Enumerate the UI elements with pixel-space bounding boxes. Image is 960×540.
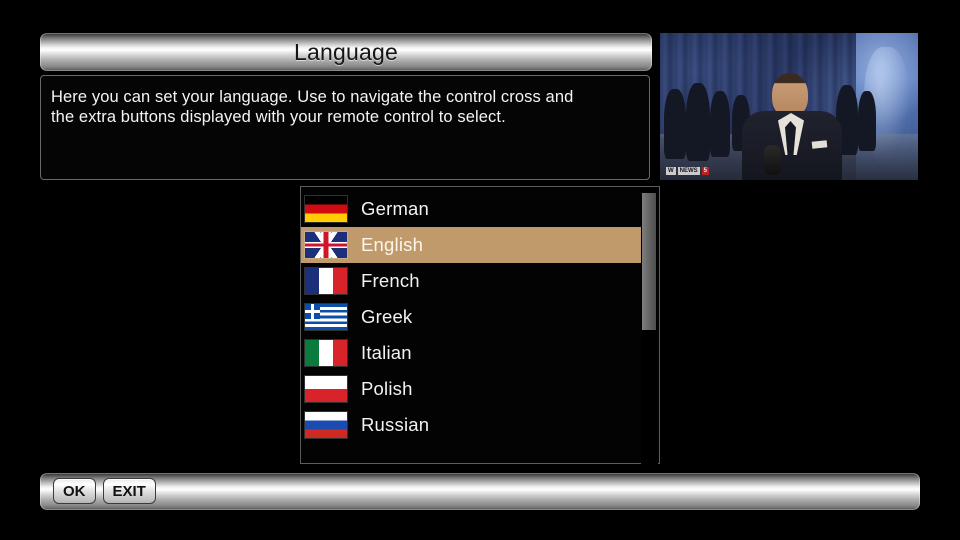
- list-scrollbar-track[interactable]: [641, 188, 658, 464]
- bug-network: NEWS: [678, 167, 700, 175]
- list-item-english[interactable]: English: [301, 227, 643, 263]
- france-flag-icon: [305, 268, 347, 294]
- ok-button-label: OK: [63, 483, 86, 500]
- list-item-label: French: [361, 270, 420, 292]
- crowd-figure: [710, 91, 730, 157]
- list-item-label: Russian: [361, 414, 429, 436]
- crowd-figure: [664, 89, 686, 159]
- language-list[interactable]: German English French Greek Italian Poli: [301, 191, 643, 443]
- description-panel: Here you can set your language. Use to n…: [40, 75, 650, 180]
- list-item-label: Greek: [361, 306, 412, 328]
- russia-flag-icon: [305, 412, 347, 438]
- list-item-german[interactable]: German: [301, 191, 643, 227]
- list-item-label: German: [361, 198, 429, 220]
- list-item-italian[interactable]: Italian: [301, 335, 643, 371]
- ok-button[interactable]: OK: [53, 478, 96, 504]
- list-item-label: English: [361, 234, 423, 256]
- exit-button[interactable]: EXIT: [103, 478, 156, 504]
- bug-number: 5: [702, 167, 709, 175]
- list-item-russian[interactable]: Russian: [301, 407, 643, 443]
- poland-flag-icon: [305, 376, 347, 402]
- list-scrollbar-thumb[interactable]: [642, 193, 656, 330]
- page-title: Language: [294, 39, 398, 66]
- description-text: Here you can set your language. Use to n…: [51, 87, 639, 127]
- language-list-panel: German English French Greek Italian Poli: [300, 186, 660, 464]
- crowd-figure: [686, 83, 710, 161]
- united-kingdom-flag-icon: [305, 232, 347, 258]
- microphone-icon: [764, 145, 781, 175]
- italy-flag-icon: [305, 340, 347, 366]
- exit-button-label: EXIT: [113, 483, 146, 500]
- list-item-french[interactable]: French: [301, 263, 643, 299]
- bug-letter: W: [666, 167, 676, 175]
- list-item-greek[interactable]: Greek: [301, 299, 643, 335]
- live-tv-preview[interactable]: W NEWS 5: [660, 33, 918, 180]
- footer-bar: OK EXIT: [40, 473, 920, 510]
- osd-screen: Language Here you can set your language.…: [0, 0, 960, 540]
- title-bar: Language: [40, 33, 652, 71]
- list-item-label: Polish: [361, 378, 413, 400]
- softkey-row: OK EXIT: [53, 478, 156, 504]
- greece-flag-icon: [305, 304, 347, 330]
- list-item-polish[interactable]: Polish: [301, 371, 643, 407]
- germany-flag-icon: [305, 196, 347, 222]
- channel-logo-bug: W NEWS 5: [666, 167, 709, 175]
- crowd-figure: [858, 91, 876, 151]
- list-item-label: Italian: [361, 342, 412, 364]
